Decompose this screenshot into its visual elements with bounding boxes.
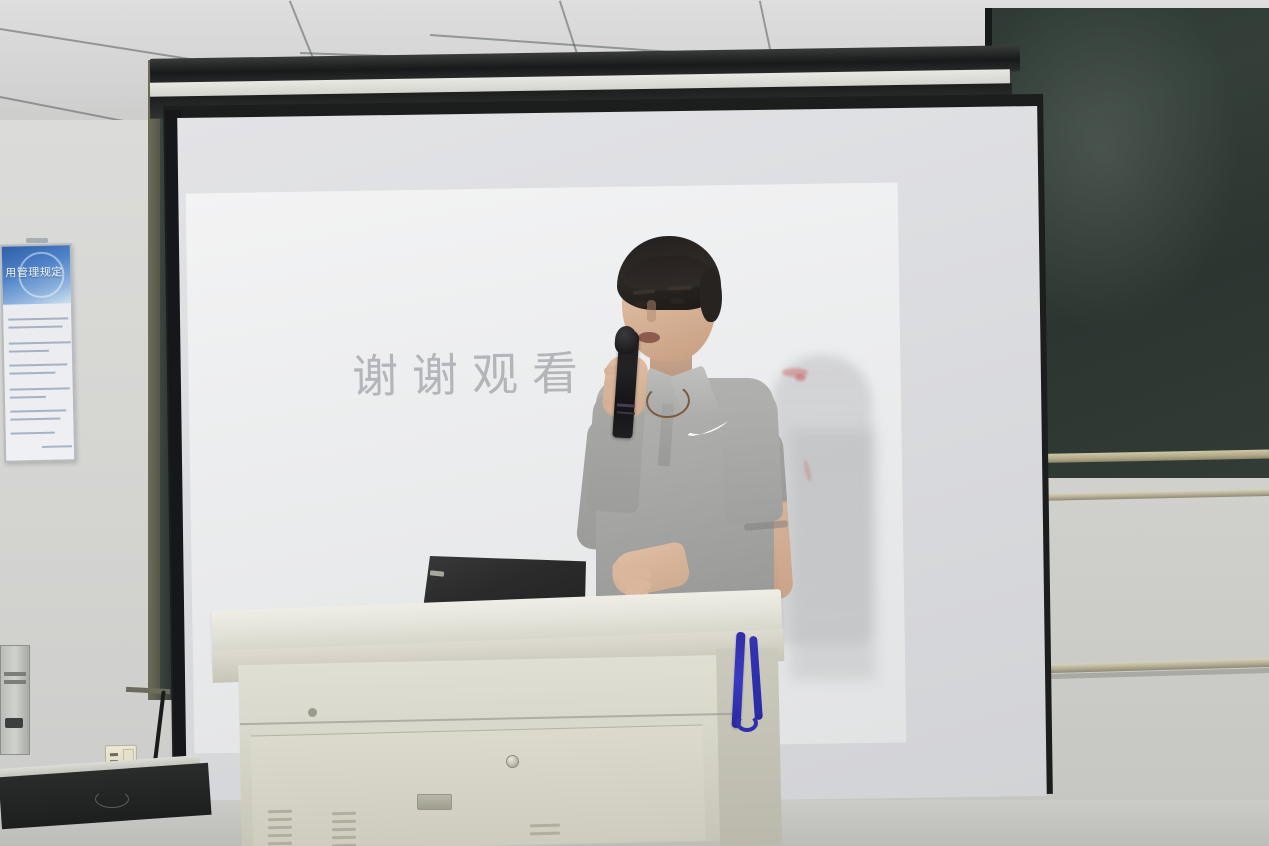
shirt-right-sleeve	[719, 389, 784, 524]
poster-header-text: 用管理规定	[5, 263, 63, 280]
electrical-box-socket	[5, 718, 23, 728]
nike-swoosh-icon	[686, 420, 730, 438]
photo-canvas: 以 栋 树 学 谢谢观看 用管理规定	[0, 0, 1269, 846]
mouth	[638, 332, 660, 343]
wall-poster: 用管理规定	[0, 243, 76, 462]
floor-cable	[95, 790, 129, 808]
lectern-front-panel	[251, 724, 706, 846]
lectern-knob[interactable]	[308, 708, 317, 717]
poster-header: 用管理规定	[2, 245, 71, 304]
nose	[647, 300, 656, 322]
lectern-lock[interactable]	[506, 755, 519, 768]
eye-right	[670, 298, 685, 304]
lanyard-loop	[736, 714, 758, 732]
lectern-handle[interactable]	[417, 794, 452, 810]
microphone-head	[614, 325, 638, 354]
electrical-box	[0, 645, 30, 755]
poster-hanger	[26, 238, 48, 243]
lectern-side-panel	[716, 647, 782, 846]
